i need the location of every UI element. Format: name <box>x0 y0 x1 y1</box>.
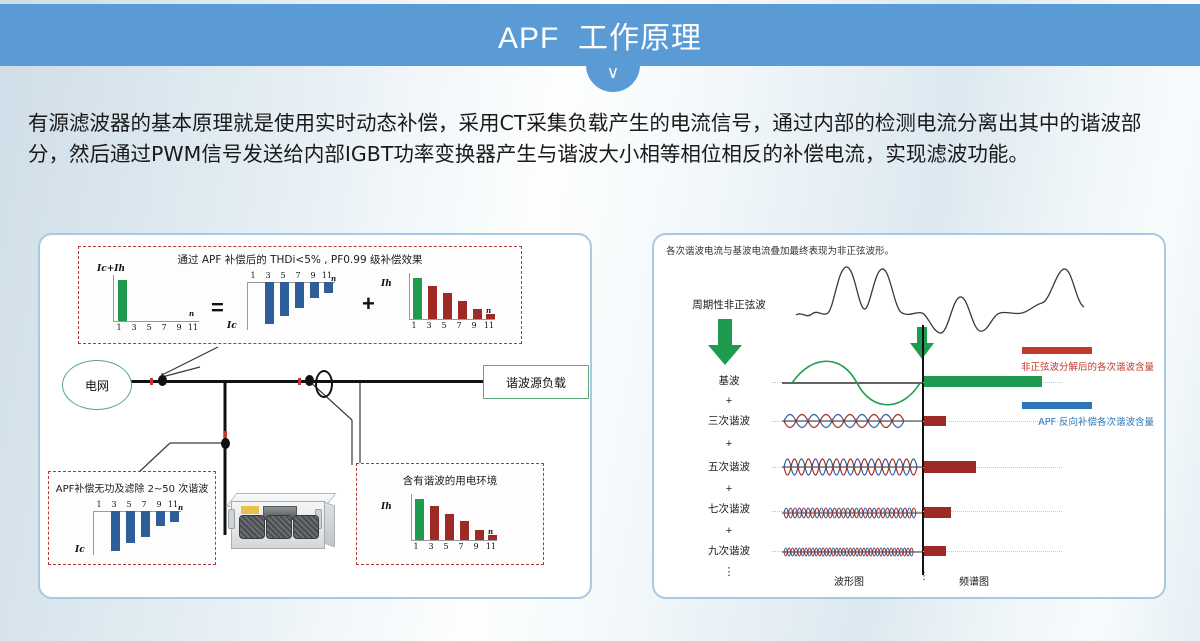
breaker-mark-left <box>150 378 153 385</box>
bar-harm-3 <box>428 286 437 319</box>
bar-env-1 <box>415 499 424 540</box>
chevron-down-icon: ∨ <box>607 63 619 83</box>
bar-apf-3 <box>111 511 120 551</box>
row-plus-4: + <box>674 525 784 537</box>
wave-9th <box>782 540 922 564</box>
chart-apf-ylabel: Ic <box>75 545 85 555</box>
top-result-box: 通过 APF 补偿后的 THDi<5% , PF0.99 级补偿效果 Ic+Ih… <box>78 246 522 344</box>
row-plus-1: + <box>674 395 784 407</box>
wave-fundamental <box>782 360 922 406</box>
legend-label-harmonic: 非正弦波分解后的各次谐波含量 <box>992 359 1154 373</box>
row-label-3rd: 三次谐波 <box>674 413 784 428</box>
bar-apf-5 <box>126 511 135 543</box>
bar-env-7 <box>460 521 469 540</box>
header-expand-tab[interactable]: ∨ <box>586 62 640 92</box>
bus-node-right <box>305 375 314 386</box>
legend-swatch-apf <box>1022 402 1092 409</box>
bar-env-11 <box>488 535 497 540</box>
wave-3rd <box>782 404 922 438</box>
chart-apf-compensation: 1 3 5 7 9 11 n Ic <box>83 500 201 560</box>
chart-harm-ylabel: Ih <box>381 279 392 289</box>
chart-env-ylabel: Ih <box>381 502 392 512</box>
bar-harm-11 <box>486 314 495 319</box>
row-plus-2: + <box>674 438 784 450</box>
bar-harm-1 <box>413 278 422 319</box>
bar-3rd <box>924 416 946 426</box>
spectrum-axis <box>922 325 924 575</box>
bar-comp-7 <box>295 282 304 308</box>
row-label-7th: 七次谐波 <box>674 501 784 516</box>
composite-waveform <box>794 259 1094 339</box>
wave-7th <box>782 499 922 527</box>
wave-5th <box>782 447 922 487</box>
equals-glyph: = <box>211 295 224 321</box>
bar-7th <box>924 507 951 518</box>
chart-sum: Ic+Ih n 1 3 5 7 9 11 <box>101 275 205 333</box>
ct-transformer-icon <box>315 370 333 398</box>
bar-env-3 <box>430 506 439 540</box>
bus-node-branch <box>221 438 230 449</box>
source-arrow-icon <box>704 319 754 367</box>
bar-env-5 <box>445 514 454 540</box>
apf-function-box: APF补偿无功及滤除 2~50 次谐波 1 3 5 7 9 11 n Ic <box>48 471 216 565</box>
grid-source-label: 电网 <box>85 377 109 394</box>
bar-apf-11 <box>170 511 179 522</box>
left-diagram-panel: 通过 APF 补偿后的 THDi<5% , PF0.99 级补偿效果 Ic+Ih… <box>38 233 592 599</box>
bottom-divider-glyph: ⋮ <box>919 571 929 582</box>
bus-node-left <box>158 375 167 386</box>
grid-source-node: 电网 <box>62 360 132 410</box>
harmonic-environment-title: 含有谐波的用电环境 <box>357 473 543 488</box>
bar-harm-5 <box>443 293 452 319</box>
page-title: APF 工作原理 <box>0 4 1200 66</box>
harmonic-load-box: 谐波源负载 <box>483 365 589 399</box>
bar-fundamental <box>924 376 1042 387</box>
chart-compensation: 1 3 5 7 9 11 n Ic <box>237 271 357 337</box>
row-plus-5: ⋮ <box>674 565 784 578</box>
bar-comp-3 <box>265 282 274 324</box>
bar-apf-9 <box>156 511 165 526</box>
page-header: APF 工作原理 <box>0 4 1200 66</box>
bottom-label-waveform: 波形图 <box>834 573 864 588</box>
bar-harm-9 <box>473 309 482 319</box>
apf-function-title: APF补偿无功及滤除 2~50 次谐波 <box>49 480 215 495</box>
bar-comp-5 <box>280 282 289 316</box>
chart-harmonic-env: Ih n 1 3 5 7 9 11 <box>399 494 519 558</box>
bar-apf-7 <box>141 511 150 537</box>
source-label: 周期性非正弦波 <box>674 297 784 312</box>
row-label-9th: 九次谐波 <box>674 543 784 558</box>
chart-sum-xlabel: n <box>189 309 194 318</box>
legend-label-apf: APF 反向补偿各次谐波含量 <box>992 414 1154 428</box>
top-box-title: 通过 APF 补偿后的 THDi<5% , PF0.99 级补偿效果 <box>79 252 521 267</box>
chart-comp-ylabel: Ic <box>227 321 237 331</box>
harmonic-load-label: 谐波源负载 <box>506 374 566 391</box>
legend-swatch-harmonic <box>1022 347 1092 354</box>
right-spectrum-panel: 各次谐波电流与基波电流叠加最终表现为非正弦波形。 周期性非正弦波 基波 + 三次… <box>652 233 1166 599</box>
apf-device-image <box>225 489 333 551</box>
bar-comp-11 <box>324 282 333 293</box>
bar-env-9 <box>475 530 484 540</box>
right-panel-note: 各次谐波电流与基波电流叠加最终表现为非正弦波形。 <box>666 243 894 257</box>
row-label-fundamental: 基波 <box>674 373 784 388</box>
chart-sum-ylabel: Ic+Ih <box>97 264 125 274</box>
intro-paragraph: 有源滤波器的基本原理就是使用实时动态补偿，采用CT采集负载产生的电流信号，通过内… <box>28 108 1178 170</box>
breaker-mark-right <box>298 378 301 385</box>
row-label-5th: 五次谐波 <box>674 459 784 474</box>
bar-sum-1 <box>118 280 127 321</box>
bar-5th <box>924 461 976 473</box>
bar-harm-7 <box>458 301 467 319</box>
row-plus-3: + <box>674 483 784 495</box>
harmonic-environment-box: 含有谐波的用电环境 Ih n 1 3 5 7 9 11 <box>356 463 544 565</box>
plus-glyph: + <box>362 291 375 317</box>
chart-harmonic: Ih n 1 3 5 7 9 11 <box>397 273 509 335</box>
bar-comp-9 <box>310 282 319 298</box>
breaker-mark-branch <box>224 431 227 438</box>
bar-9th <box>924 546 946 556</box>
bottom-label-spectrum: 频谱图 <box>959 573 989 588</box>
